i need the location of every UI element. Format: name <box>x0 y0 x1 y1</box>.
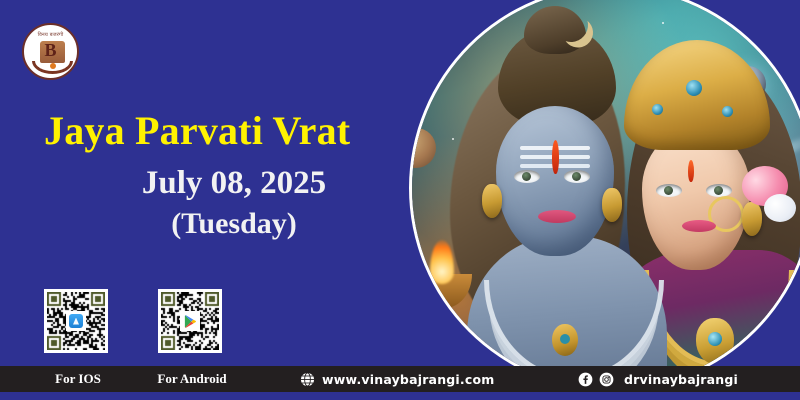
parvati-tilak <box>688 160 694 182</box>
shiva-earring <box>602 188 622 222</box>
qr-android-label: For Android <box>142 371 242 387</box>
event-date: July 08, 2025 <box>44 163 424 203</box>
parvati-pendant <box>696 318 734 364</box>
instagram-icon[interactable] <box>599 372 614 387</box>
shiva-eye <box>564 170 590 183</box>
qr-ios-label: For IOS <box>40 371 116 387</box>
star-speck <box>452 138 454 140</box>
facebook-icon[interactable] <box>578 372 593 387</box>
crown-jewel <box>652 104 663 115</box>
shiva-lips <box>538 210 576 223</box>
logo-monogram: B <box>24 40 77 60</box>
shiva-parvati-illustration <box>412 0 800 388</box>
qr-android[interactable] <box>158 289 222 353</box>
logo-inner: विनय बजरंगी B <box>24 25 77 78</box>
qr-ios[interactable] <box>44 289 108 353</box>
app-store-badge <box>66 311 86 331</box>
parvati-eye <box>656 184 682 197</box>
vinay-bajrangi-logo[interactable]: विनय बजरंगी B <box>22 23 79 80</box>
website-url: www.vinaybajrangi.com <box>322 372 495 387</box>
star-speck <box>662 22 664 24</box>
shiva-eye <box>514 170 540 183</box>
shiva-earring <box>482 184 502 218</box>
footer-bar: For IOS For Android www.vinaybajrangi.co… <box>0 366 800 392</box>
promotional-banner: विनय बजरंगी B Jaya Parvati Vrat July 08,… <box>0 0 800 400</box>
google-play-icon <box>183 314 198 329</box>
parvati-lips <box>682 220 716 232</box>
hair-flower <box>764 194 796 222</box>
parvati-earring <box>742 202 762 236</box>
shiva-pendant <box>552 324 578 356</box>
website-link[interactable]: www.vinaybajrangi.com <box>300 372 495 387</box>
shiva-tilak <box>552 140 559 174</box>
crown-jewel <box>722 106 733 117</box>
event-day: (Tuesday) <box>44 205 424 243</box>
social-links[interactable]: drvinaybajrangi <box>578 372 738 387</box>
crown-jewel <box>686 80 702 96</box>
globe-icon <box>300 372 315 387</box>
social-handle: drvinaybajrangi <box>624 372 738 387</box>
parvati-eye <box>706 184 732 197</box>
app-store-icon <box>69 314 83 328</box>
logo-script-text: विनय बजरंगी <box>24 32 77 38</box>
shiva-face <box>496 106 614 256</box>
page-title: Jaya Parvati Vrat <box>44 109 424 153</box>
star-speck <box>482 28 484 30</box>
logo-accent-dot <box>50 63 56 69</box>
google-play-badge <box>180 311 200 331</box>
